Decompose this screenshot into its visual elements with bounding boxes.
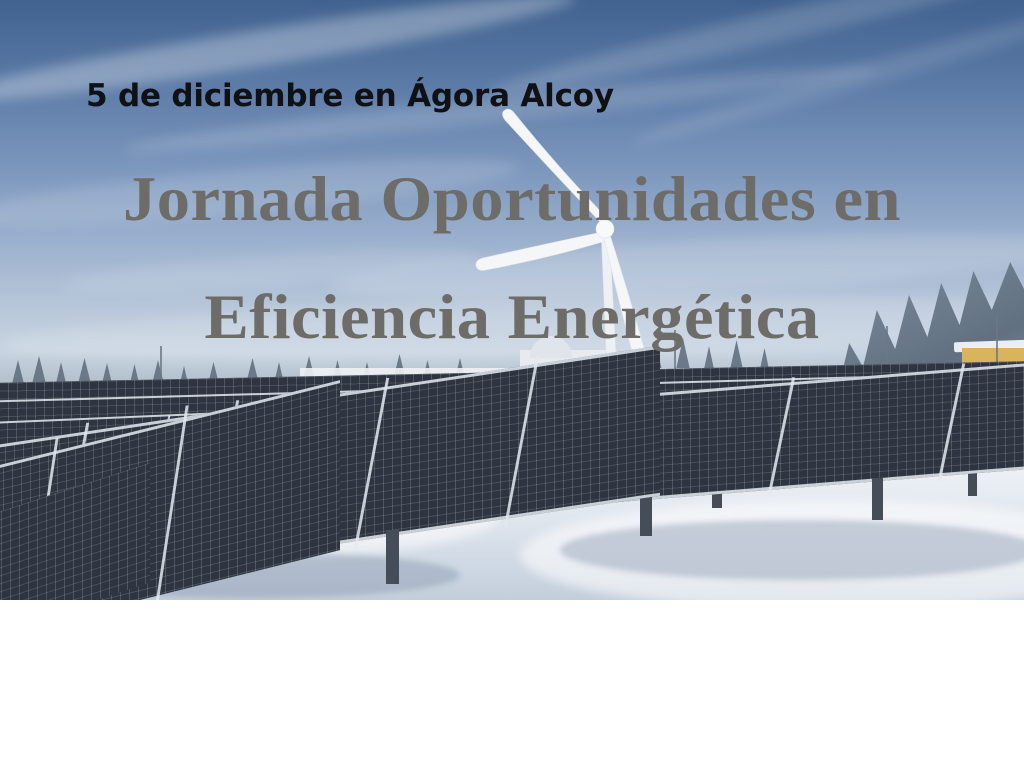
title-line-2: Eficiencia Energética xyxy=(0,258,1024,376)
panel-post xyxy=(872,478,883,520)
panel-post xyxy=(386,530,399,584)
sponsor-footer: Organizan Colaboran FEDAC xyxy=(0,600,1024,768)
poster: 5 de diciembre en Ágora Alcoy Jornada Op… xyxy=(0,0,1024,768)
title-line-1: Jornada Oportunidades en xyxy=(0,140,1024,258)
snow-shadow xyxy=(560,520,1024,580)
page-title: Jornada Oportunidades en Eficiencia Ener… xyxy=(0,140,1024,376)
event-date: 5 de diciembre en Ágora Alcoy xyxy=(86,78,614,114)
